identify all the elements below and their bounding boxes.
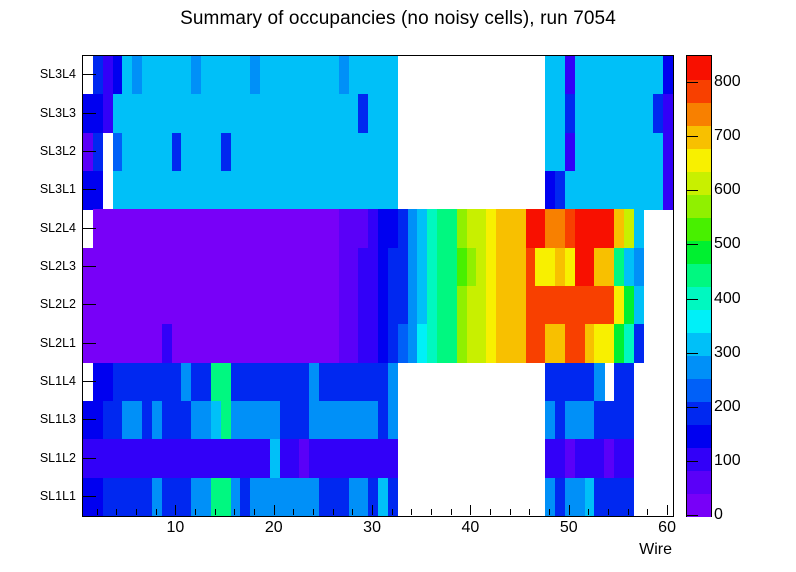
heatmap-cell bbox=[191, 171, 201, 210]
heatmap-cell bbox=[545, 286, 555, 325]
heatmap-cell bbox=[388, 439, 398, 478]
heatmap-cell bbox=[545, 209, 555, 248]
heatmap-cell bbox=[103, 478, 113, 516]
heatmap-cell bbox=[221, 171, 231, 210]
heatmap-cell bbox=[339, 439, 349, 478]
heatmap-cell bbox=[132, 363, 142, 402]
heatmap-cell bbox=[388, 133, 398, 172]
heatmap-cell bbox=[368, 324, 378, 363]
heatmap-cell bbox=[250, 286, 260, 325]
heatmap-cell bbox=[280, 363, 290, 402]
heatmap-cell bbox=[339, 478, 349, 516]
x-axis-tick bbox=[392, 509, 393, 515]
heatmap-cell bbox=[388, 478, 398, 516]
x-axis-tick bbox=[569, 505, 570, 515]
heatmap-cell bbox=[309, 286, 319, 325]
x-axis-tick bbox=[156, 509, 157, 515]
x-axis-tick-label: 30 bbox=[363, 519, 381, 537]
heatmap-cell bbox=[604, 171, 614, 210]
heatmap-cell bbox=[575, 248, 585, 287]
heatmap-cell bbox=[309, 94, 319, 133]
color-scale-tick bbox=[686, 82, 698, 83]
color-scale-bar bbox=[686, 55, 712, 517]
heatmap-cell bbox=[457, 286, 467, 325]
x-axis-tick bbox=[116, 509, 117, 515]
heatmap-cell bbox=[604, 324, 614, 363]
color-scale-tick bbox=[686, 244, 698, 245]
heatmap-cell bbox=[221, 248, 231, 287]
heatmap-cell bbox=[368, 209, 378, 248]
heatmap-cell bbox=[663, 56, 673, 95]
color-band bbox=[687, 217, 711, 241]
heatmap-cell bbox=[663, 171, 673, 210]
heatmap-cell bbox=[624, 363, 634, 402]
heatmap-cell bbox=[663, 133, 673, 172]
heatmap-cell bbox=[516, 248, 526, 287]
color-scale-label: 500 bbox=[714, 235, 741, 253]
heatmap-cell bbox=[388, 56, 398, 95]
color-scale-tick bbox=[686, 515, 698, 516]
y-axis-label-sl3l2: SL3L2 bbox=[40, 144, 76, 158]
heatmap-cell bbox=[309, 56, 319, 95]
heatmap-cell bbox=[545, 439, 555, 478]
heatmap-cell bbox=[486, 324, 496, 363]
heatmap-cell bbox=[191, 56, 201, 95]
heatmap-cell bbox=[132, 478, 142, 516]
y-axis-label-sl2l1: SL2L1 bbox=[40, 336, 76, 350]
heatmap-cell bbox=[634, 324, 644, 363]
heatmap-cell bbox=[368, 401, 378, 440]
heatmap-cell bbox=[575, 56, 585, 95]
x-axis-tick bbox=[136, 509, 137, 515]
y-axis-tick bbox=[82, 74, 96, 75]
heatmap-cell bbox=[162, 94, 172, 133]
heatmap-cell bbox=[280, 478, 290, 516]
x-axis-tick bbox=[490, 509, 491, 515]
y-axis-tick bbox=[82, 113, 96, 114]
heatmap-cell bbox=[309, 209, 319, 248]
color-scale-tick bbox=[686, 353, 698, 354]
heatmap-cell bbox=[339, 56, 349, 95]
color-scale-label: 300 bbox=[714, 344, 741, 362]
heatmap-cell bbox=[250, 171, 260, 210]
heatmap-cell bbox=[280, 209, 290, 248]
root-canvas: Summary of occupancies (no noisy cells),… bbox=[0, 0, 796, 572]
heatmap-cell bbox=[388, 401, 398, 440]
heatmap-cell bbox=[309, 401, 319, 440]
y-axis-label-sl1l4: SL1L4 bbox=[40, 374, 76, 388]
heatmap-cell bbox=[545, 171, 555, 210]
heatmap-cell bbox=[191, 94, 201, 133]
x-axis-tick bbox=[195, 509, 196, 515]
heatmap-cell bbox=[604, 94, 614, 133]
heatmap-cell bbox=[250, 56, 260, 95]
heatmap-cell bbox=[162, 248, 172, 287]
y-axis-tick bbox=[82, 343, 96, 344]
heatmap-cell bbox=[132, 324, 142, 363]
color-band bbox=[687, 194, 711, 218]
x-axis-tick-label: 10 bbox=[167, 519, 185, 537]
color-scale-tick bbox=[686, 190, 698, 191]
color-band bbox=[687, 493, 711, 517]
heatmap-cell bbox=[250, 209, 260, 248]
x-axis-tick-label: 40 bbox=[462, 519, 480, 537]
y-axis-label-sl2l2: SL2L2 bbox=[40, 297, 76, 311]
heatmap-cell bbox=[634, 56, 644, 95]
heatmap-cell bbox=[162, 56, 172, 95]
heatmap-cell bbox=[398, 248, 408, 287]
heatmap-cell bbox=[250, 133, 260, 172]
x-axis-tick bbox=[588, 509, 589, 515]
y-axis-label-sl1l2: SL1L2 bbox=[40, 451, 76, 465]
y-axis-tick bbox=[82, 496, 96, 497]
heatmap-cell bbox=[516, 286, 526, 325]
x-axis-tick bbox=[215, 509, 216, 515]
heatmap-cell bbox=[368, 94, 378, 133]
heatmap-cell bbox=[221, 209, 231, 248]
heatmap-cell bbox=[162, 209, 172, 248]
heatmap-cell bbox=[221, 286, 231, 325]
y-axis-tick bbox=[82, 458, 96, 459]
x-axis-tick bbox=[234, 509, 235, 515]
heatmap-cell bbox=[368, 363, 378, 402]
heatmap-cell bbox=[575, 478, 585, 516]
heatmap-cell bbox=[191, 133, 201, 172]
heatmap-cell bbox=[221, 133, 231, 172]
heatmap-cell bbox=[280, 324, 290, 363]
heatmap-cell bbox=[250, 324, 260, 363]
heatmap-cell bbox=[280, 133, 290, 172]
heatmap-cell bbox=[103, 286, 113, 325]
y-axis-label-sl2l3: SL2L3 bbox=[40, 259, 76, 273]
y-axis-label-sl1l3: SL1L3 bbox=[40, 412, 76, 426]
heatmap-cell bbox=[103, 439, 113, 478]
heatmap-cell bbox=[575, 439, 585, 478]
heatmap-cell bbox=[545, 324, 555, 363]
color-band bbox=[687, 355, 711, 379]
heatmap-cell bbox=[162, 133, 172, 172]
heatmap-cell bbox=[604, 286, 614, 325]
x-axis-tick bbox=[470, 505, 471, 515]
heatmap-cell bbox=[398, 324, 408, 363]
heatmap-cell bbox=[604, 209, 614, 248]
color-band bbox=[687, 470, 711, 494]
x-axis-tick-label: 50 bbox=[560, 519, 578, 537]
heatmap-cell bbox=[398, 286, 408, 325]
heatmap-cell bbox=[634, 286, 644, 325]
heatmap-cell bbox=[575, 324, 585, 363]
heatmap-cell bbox=[221, 478, 231, 516]
x-axis-tick bbox=[175, 505, 176, 515]
heatmap-cell bbox=[250, 439, 260, 478]
heatmap-cell bbox=[103, 56, 113, 95]
heatmap-cell bbox=[103, 324, 113, 363]
heatmap-cell bbox=[309, 171, 319, 210]
y-axis-tick bbox=[82, 228, 96, 229]
heatmap-cell bbox=[516, 209, 526, 248]
heatmap-cell bbox=[221, 324, 231, 363]
heatmap-cell bbox=[309, 478, 319, 516]
heatmap-cell bbox=[93, 171, 103, 210]
heatmap-cell bbox=[250, 478, 260, 516]
heatmap-cell bbox=[604, 56, 614, 95]
heatmap-cell bbox=[132, 439, 142, 478]
y-axis-labels: SL3L4SL3L3SL3L2SL3L1SL2L4SL2L3SL2L2SL2L1… bbox=[0, 55, 76, 515]
y-axis-tick bbox=[82, 304, 96, 305]
page-title: Summary of occupancies (no noisy cells),… bbox=[0, 8, 796, 30]
color-scale-tick bbox=[686, 136, 698, 137]
x-axis-tick bbox=[411, 509, 412, 515]
heatmap-cell bbox=[427, 286, 437, 325]
heatmap-cell bbox=[388, 363, 398, 402]
color-band bbox=[687, 56, 711, 80]
heatmap-cell bbox=[368, 171, 378, 210]
x-axis-tick bbox=[313, 509, 314, 515]
heatmap-cell bbox=[486, 209, 496, 248]
heatmap-cell bbox=[250, 363, 260, 402]
x-axis-tick bbox=[608, 509, 609, 515]
heatmap-cell bbox=[280, 286, 290, 325]
heatmap-cell bbox=[191, 324, 201, 363]
color-scale-label: 600 bbox=[714, 181, 741, 199]
heatmap-cell bbox=[368, 439, 378, 478]
heatmap-cell bbox=[339, 363, 349, 402]
heatmap-cell bbox=[191, 248, 201, 287]
heatmap-cell bbox=[103, 248, 113, 287]
heatmap-cell bbox=[103, 363, 113, 402]
heatmap-cell bbox=[457, 248, 467, 287]
x-axis-tick bbox=[667, 505, 668, 515]
color-band bbox=[687, 148, 711, 172]
heatmap-cell bbox=[604, 133, 614, 172]
heatmap-cell bbox=[457, 209, 467, 248]
heatmap-cell bbox=[663, 94, 673, 133]
heatmap-cell bbox=[280, 56, 290, 95]
heatmap-cell bbox=[368, 133, 378, 172]
color-scale-tick bbox=[686, 407, 698, 408]
heatmap-cell bbox=[486, 286, 496, 325]
x-axis-tick-label: 60 bbox=[658, 519, 676, 537]
heatmap-cell bbox=[457, 324, 467, 363]
color-band bbox=[687, 102, 711, 126]
heatmap-cell bbox=[132, 56, 142, 95]
heatmap-cell bbox=[427, 209, 437, 248]
heatmap-cell bbox=[339, 94, 349, 133]
heatmap-cell bbox=[398, 209, 408, 248]
heatmap-cell bbox=[634, 248, 644, 287]
heatmap-cell bbox=[280, 171, 290, 210]
heatmap-cell bbox=[368, 286, 378, 325]
heatmap-cell bbox=[309, 439, 319, 478]
heatmap-cell bbox=[191, 363, 201, 402]
color-scale-tick bbox=[686, 461, 698, 462]
heatmap-cell bbox=[221, 439, 231, 478]
heatmap-cell bbox=[545, 401, 555, 440]
heatmap-cell bbox=[339, 324, 349, 363]
heatmap-cell bbox=[309, 248, 319, 287]
x-axis-tick bbox=[274, 505, 275, 515]
heatmap-cell bbox=[545, 133, 555, 172]
heatmap-cell bbox=[339, 209, 349, 248]
color-scale-label: 400 bbox=[714, 290, 741, 308]
heatmap-cell bbox=[132, 286, 142, 325]
heatmap-cell bbox=[545, 94, 555, 133]
heatmap-cell bbox=[624, 439, 634, 478]
x-axis-tick bbox=[647, 509, 648, 515]
heatmap-cell bbox=[250, 94, 260, 133]
heatmap-cell bbox=[624, 401, 634, 440]
heatmap-cell bbox=[545, 478, 555, 516]
x-axis-tick bbox=[333, 509, 334, 515]
x-axis-tick bbox=[97, 509, 98, 515]
heatmap-cell bbox=[575, 363, 585, 402]
heatmap-cell bbox=[132, 94, 142, 133]
heatmap-cell bbox=[368, 56, 378, 95]
heatmap-cell bbox=[132, 133, 142, 172]
heatmap-cell bbox=[162, 324, 172, 363]
x-axis-tick bbox=[628, 509, 629, 515]
heatmap-cell bbox=[604, 401, 614, 440]
heatmap-cell bbox=[162, 286, 172, 325]
heatmap-cell bbox=[132, 209, 142, 248]
heatmap-cell bbox=[103, 94, 113, 133]
heatmap-cell bbox=[368, 248, 378, 287]
x-axis-tick bbox=[529, 509, 530, 515]
heatmap-cell bbox=[604, 439, 614, 478]
heatmap-cell bbox=[132, 171, 142, 210]
heatmap-cell bbox=[280, 248, 290, 287]
heatmap-cell bbox=[309, 363, 319, 402]
heatmap-cell bbox=[545, 248, 555, 287]
heatmap-cell bbox=[368, 478, 378, 516]
color-scale-label: 200 bbox=[714, 398, 741, 416]
heatmap-cell bbox=[191, 439, 201, 478]
heatmap-cell bbox=[103, 401, 113, 440]
heatmap-cell bbox=[624, 478, 634, 516]
heatmap-cell bbox=[516, 324, 526, 363]
heatmap-cell bbox=[634, 133, 644, 172]
x-axis-tick bbox=[254, 509, 255, 515]
heatmap-cell bbox=[575, 133, 585, 172]
heatmap-cell bbox=[604, 478, 614, 516]
heatmap-cell bbox=[162, 363, 172, 402]
heatmap-cell bbox=[634, 94, 644, 133]
heatmap-cell bbox=[339, 248, 349, 287]
color-scale-label: 700 bbox=[714, 127, 741, 145]
y-axis-tick bbox=[82, 189, 96, 190]
x-axis-tick bbox=[510, 509, 511, 515]
heatmap-cell bbox=[221, 94, 231, 133]
heatmap-cell bbox=[191, 209, 201, 248]
heatmap-cell bbox=[191, 401, 201, 440]
heatmap-cell bbox=[388, 171, 398, 210]
x-axis-tick-label: 20 bbox=[265, 519, 283, 537]
color-band bbox=[687, 401, 711, 425]
color-band bbox=[687, 378, 711, 402]
y-axis-label-sl2l4: SL2L4 bbox=[40, 221, 76, 235]
heatmap-cell bbox=[162, 439, 172, 478]
heatmap-cell bbox=[162, 171, 172, 210]
x-axis-tick bbox=[451, 509, 452, 515]
color-scale-label: 0 bbox=[714, 506, 723, 524]
color-band bbox=[687, 309, 711, 333]
x-axis-tick bbox=[352, 509, 353, 515]
heatmap-cell bbox=[545, 56, 555, 95]
heatmap-cell bbox=[162, 401, 172, 440]
heatmap-cell bbox=[339, 286, 349, 325]
heatmap-cell bbox=[191, 478, 201, 516]
color-band bbox=[687, 447, 711, 471]
heatmap-cell bbox=[427, 248, 437, 287]
heatmap-cell bbox=[388, 94, 398, 133]
heatmap-cell bbox=[545, 363, 555, 402]
heatmap-cell bbox=[250, 401, 260, 440]
x-axis-tick bbox=[549, 509, 550, 515]
y-axis-tick bbox=[82, 381, 96, 382]
heatmap-cell bbox=[191, 286, 201, 325]
heatmap-cell bbox=[162, 478, 172, 516]
y-axis-label-sl3l3: SL3L3 bbox=[40, 106, 76, 120]
heatmap-cell bbox=[93, 133, 103, 172]
heatmap-cell bbox=[427, 324, 437, 363]
x-axis-tick bbox=[372, 505, 373, 515]
y-axis-label-sl1l1: SL1L1 bbox=[40, 489, 76, 503]
heatmap-cell bbox=[309, 133, 319, 172]
heatmap-cell bbox=[339, 171, 349, 210]
y-axis-tick bbox=[82, 266, 96, 267]
y-axis-label-sl3l1: SL3L1 bbox=[40, 182, 76, 196]
heatmap-cell bbox=[280, 439, 290, 478]
heatmap-cell bbox=[339, 401, 349, 440]
heatmap-cell bbox=[575, 171, 585, 210]
heatmap-cell bbox=[604, 248, 614, 287]
plot-frame bbox=[82, 55, 674, 517]
heatmap-cell bbox=[594, 363, 604, 402]
heatmap-cell bbox=[634, 171, 644, 210]
heatmap-cell bbox=[339, 133, 349, 172]
color-scale-tick bbox=[686, 299, 698, 300]
heatmap-cell bbox=[221, 363, 231, 402]
heatmap-cell bbox=[575, 286, 585, 325]
heatmap-cell bbox=[309, 324, 319, 363]
heatmap-cells bbox=[83, 56, 673, 516]
heatmap-cell bbox=[221, 401, 231, 440]
y-axis-label-sl3l4: SL3L4 bbox=[40, 67, 76, 81]
x-axis-tick bbox=[431, 509, 432, 515]
y-axis-tick bbox=[82, 419, 96, 420]
x-axis-tick bbox=[293, 509, 294, 515]
color-band bbox=[687, 263, 711, 287]
heatmap-cell bbox=[280, 401, 290, 440]
heatmap-cell bbox=[132, 401, 142, 440]
color-band bbox=[687, 424, 711, 448]
heatmap-cell bbox=[486, 248, 496, 287]
heatmap-cell bbox=[575, 94, 585, 133]
heatmap-cell bbox=[575, 401, 585, 440]
x-axis-title: Wire bbox=[639, 541, 672, 559]
heatmap-cell bbox=[575, 209, 585, 248]
heatmap-cell bbox=[103, 209, 113, 248]
heatmap-cell bbox=[280, 94, 290, 133]
color-scale-label: 100 bbox=[714, 452, 741, 470]
y-axis-tick bbox=[82, 151, 96, 152]
color-scale-label: 800 bbox=[714, 73, 741, 91]
heatmap-cell bbox=[221, 56, 231, 95]
heatmap-cell bbox=[132, 248, 142, 287]
heatmap-cell bbox=[250, 248, 260, 287]
heatmap-cell bbox=[634, 209, 644, 248]
